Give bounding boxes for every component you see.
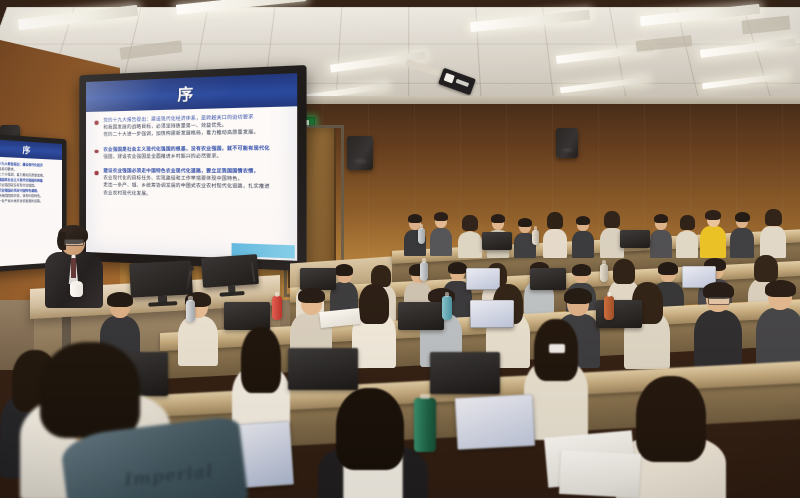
hair: [448, 262, 467, 274]
projection-screen: 序 党的十九大报告提出：建设现代化经济体系，是跨越关口的迫切要求 和我国发展的战…: [86, 73, 297, 261]
laptop-screen: [471, 301, 513, 327]
torso: [676, 231, 698, 258]
torso: [458, 232, 482, 258]
audience-member: [318, 392, 428, 498]
torso: [543, 229, 567, 258]
hair: [40, 342, 140, 438]
hair: [241, 327, 281, 393]
lecture-hall-photo: 序 党的十九大报告提出：建设现代化经济 体系是迫切要求。 党的二十大强调，着力推…: [0, 0, 800, 498]
slide-bullet-block: 农业强国是社会主义现代化强国的根基，没有农业强国，就不可能有现代化 强国，建设农…: [95, 145, 289, 161]
hair: [754, 255, 778, 282]
hair: [359, 284, 389, 324]
desk-monitor: [224, 302, 270, 330]
audience-member-glasses: [694, 282, 742, 356]
audience-member: [760, 210, 786, 252]
white-cup: [70, 283, 83, 297]
slide-body: 党的十九大报告提出：建设现代化经济体系，是跨越关口的迫切要求 和我国发展的战略目…: [95, 113, 289, 243]
hair: [572, 264, 591, 276]
hair: [705, 210, 721, 220]
audience-member: [650, 214, 672, 252]
audience-member: [430, 212, 452, 250]
device-label-strip: [456, 79, 470, 87]
red-bottle: [272, 296, 282, 320]
audience-member-yellow-jacket: [700, 210, 726, 252]
audience-member: [730, 212, 754, 252]
desk-monitor: [430, 352, 500, 394]
presenter-tie: [71, 258, 76, 278]
hair: [107, 292, 133, 307]
torso: [694, 310, 742, 370]
torso-yellow: [700, 226, 726, 258]
wall-speaker: [347, 136, 373, 170]
side-slide-line: 走出一条产城乡统筹协调发展的道路。: [0, 199, 59, 204]
green-thermos: [414, 398, 436, 452]
hair: [518, 218, 532, 227]
desk-monitor: [300, 268, 336, 290]
hair: [408, 214, 422, 223]
bullet-icon: [95, 121, 98, 125]
tablet: [455, 394, 536, 450]
glasses-icon: [64, 239, 84, 246]
hair: [735, 212, 750, 222]
slide-bullet-block: 建设农业强国必须走中国特色农业现代化道路，要立足我国国情农情， 农业现代化的目标…: [95, 168, 289, 200]
audience-member: [524, 322, 588, 424]
torso: [650, 230, 672, 258]
water-bottle: [418, 228, 425, 244]
audience-member: [458, 216, 482, 252]
torso: [730, 228, 754, 258]
glasses-icon: [708, 297, 730, 305]
hair: [636, 376, 706, 462]
hair: [604, 211, 620, 228]
audience-member: [676, 216, 698, 252]
torso: [178, 316, 218, 366]
hair-clip-icon: [549, 344, 565, 353]
desk-monitor: [596, 300, 642, 328]
hair: [613, 259, 635, 284]
water-bottle: [604, 296, 614, 320]
hair: [765, 280, 796, 297]
audience-member: [756, 280, 800, 356]
water-bottle: [186, 300, 195, 322]
hair: [491, 214, 505, 223]
hair: [576, 216, 590, 225]
hair: [462, 215, 478, 231]
hair: [680, 215, 695, 230]
desk-monitor: [288, 348, 358, 390]
audience-member: [232, 330, 290, 426]
desk-monitor: [398, 302, 444, 330]
hair: [336, 388, 404, 470]
audience-member: [178, 292, 218, 356]
desk-monitor: [620, 230, 650, 248]
hair: [335, 264, 353, 276]
water-bottle: [532, 230, 539, 245]
audience-member: [572, 216, 594, 252]
desk-monitor: [530, 268, 566, 290]
hair: [564, 288, 592, 304]
audience-member: [543, 213, 567, 252]
torso: [430, 228, 452, 256]
podium-monitor: [201, 254, 259, 288]
water-bottle: [600, 264, 608, 282]
hair: [654, 214, 668, 223]
teal-bottle: [442, 296, 452, 320]
presentation-slide: 序 党的十九大报告提出：建设现代化经济体系，是跨越关口的迫切要求 和我国发展的战…: [86, 73, 297, 261]
bullet-icon: [95, 150, 98, 154]
hair: [547, 212, 563, 229]
wall-speaker: [556, 128, 578, 158]
hair: [298, 288, 325, 303]
bullet-icon: [95, 171, 98, 175]
torso: [760, 226, 786, 258]
slide-bullet-block: 党的十九大报告提出：建设现代化经济体系，是跨越关口的迫切要求 和我国发展的战略目…: [95, 113, 289, 139]
notebook-paper: [559, 450, 641, 498]
slide-line: 强国，建设农业强国是全面推进乡村振兴的必然要求。: [103, 152, 289, 160]
tablet-screen: [456, 395, 535, 449]
hair: [658, 262, 678, 275]
device-label-icon: [444, 73, 455, 84]
laptop: [470, 300, 514, 328]
hair: [765, 209, 782, 226]
hair: [434, 212, 448, 221]
foreground-denim-student: Imperial: [10, 360, 240, 498]
desk-monitor: [482, 232, 512, 250]
water-bottle: [420, 262, 428, 281]
torso: [572, 231, 594, 258]
